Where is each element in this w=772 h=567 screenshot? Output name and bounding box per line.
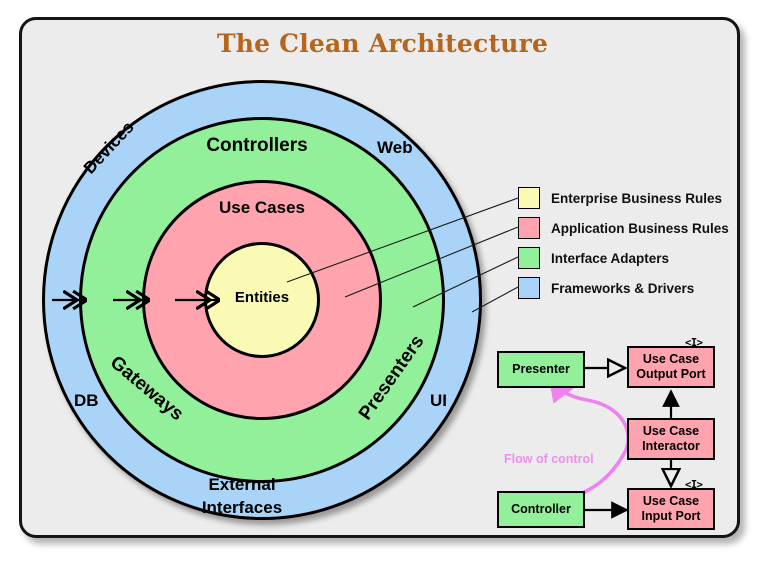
diagram-card: The Clean Architecture Devices Web UI DB… <box>19 17 740 538</box>
flow-box-interactor-line2: Interactor <box>642 439 700 454</box>
interface-marker-output-port: <I> <box>685 337 702 349</box>
flow-box-use-case-output-port[interactable]: Use Case Output Port <box>627 346 715 388</box>
flow-box-presenter-label: Presenter <box>512 362 570 377</box>
flow-box-input-port-line2: Input Port <box>641 509 700 524</box>
flow-box-use-case-interactor[interactable]: Use Case Interactor <box>627 418 715 460</box>
flow-box-controller-label: Controller <box>511 502 571 517</box>
flow-box-use-case-input-port[interactable]: Use Case Input Port <box>627 488 715 530</box>
flow-of-control-curve <box>553 382 628 501</box>
flow-of-control-label: Flow of control <box>504 452 594 466</box>
flow-of-control-connectors <box>22 20 743 541</box>
flow-box-output-port-line2: Output Port <box>636 367 705 382</box>
interface-marker-input-port: <I> <box>685 479 702 491</box>
flow-box-input-port-line1: Use Case <box>643 494 699 509</box>
flow-box-output-port-line1: Use Case <box>643 352 699 367</box>
flow-box-presenter[interactable]: Presenter <box>497 351 585 388</box>
flow-box-controller[interactable]: Controller <box>497 491 585 528</box>
flow-box-interactor-line1: Use Case <box>643 424 699 439</box>
